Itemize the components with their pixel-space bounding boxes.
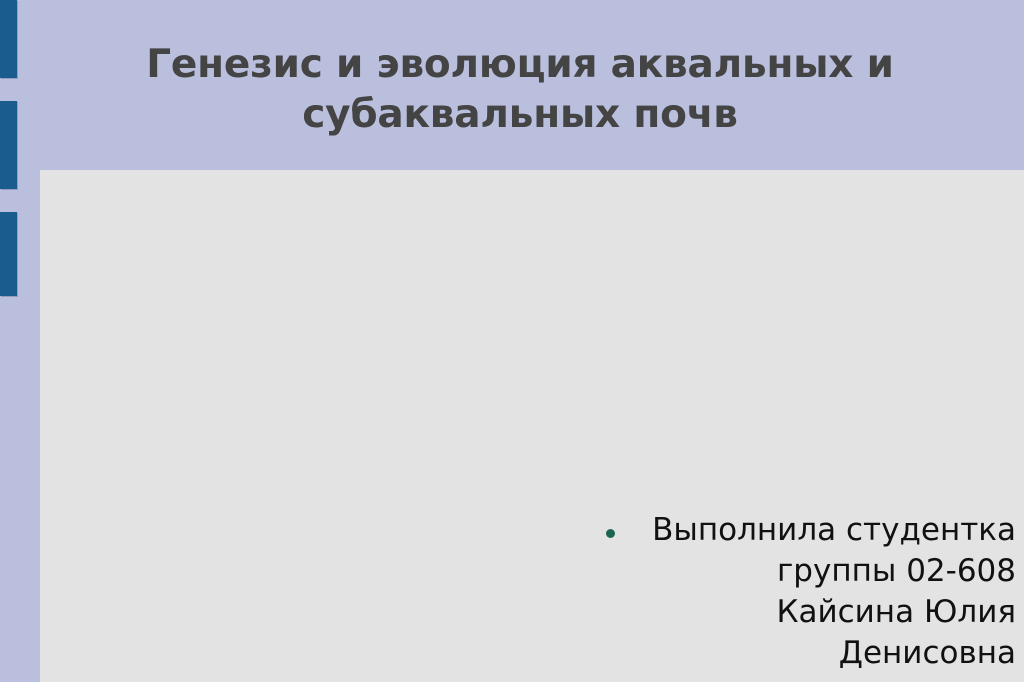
author-line-4-text: Денисовна xyxy=(839,635,1016,671)
accent-bar-1-icon xyxy=(0,0,17,78)
author-block: Выполнила студентка группы 02-608 Кайсин… xyxy=(596,510,1016,674)
author-line-2-text: группы 02-608 xyxy=(777,553,1016,589)
bullet-dot-icon xyxy=(606,529,615,538)
page-title: Генезис и эволюция аквальных и субакваль… xyxy=(40,40,1000,140)
author-line-1: Выполнила студентка xyxy=(596,510,1016,551)
author-line-2: группы 02-608 xyxy=(596,551,1016,592)
author-line-1-text: Выполнила студентка xyxy=(652,512,1016,548)
accent-bar-3-icon xyxy=(0,212,17,296)
author-line-4: Денисовна xyxy=(596,633,1016,674)
slide-title-container: Генезис и эволюция аквальных и субакваль… xyxy=(40,40,1000,140)
presentation-slide: Генезис и эволюция аквальных и субакваль… xyxy=(0,0,1024,682)
slide-title-line-2: субаквальных почв xyxy=(40,90,1000,140)
author-line-3-text: Кайсина Юлия xyxy=(776,594,1016,630)
accent-bar-2-icon xyxy=(0,101,17,189)
author-line-3: Кайсина Юлия xyxy=(596,592,1016,633)
slide-title-line-1: Генезис и эволюция аквальных и xyxy=(40,40,1000,90)
